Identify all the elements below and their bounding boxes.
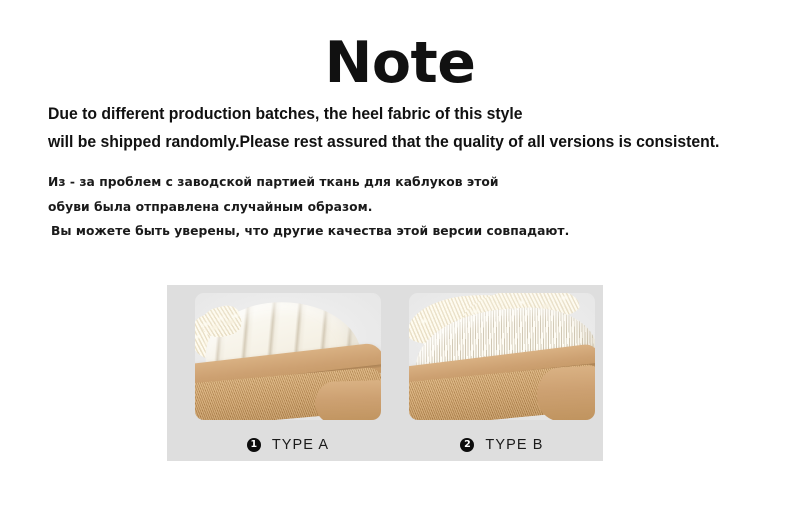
russian-notice: Из - за проблем с заводской партией ткан… [48, 170, 778, 244]
english-notice-line-1: Due to different production batches, the… [48, 100, 745, 128]
platform-base [536, 365, 595, 420]
platform-base [314, 380, 381, 420]
variant-type-a[interactable]: 1 TYPE A [195, 293, 381, 455]
russian-notice-line-3: Вы можете быть уверены, что другие качес… [48, 219, 778, 244]
variant-type-a-caption: 1 TYPE A [195, 435, 381, 455]
variant-badge-1: 1 [247, 438, 261, 452]
variant-badge-2: 2 [460, 438, 474, 452]
russian-notice-line-2: обуви была отправлена случайным образом. [48, 195, 778, 220]
page-title: Note [0, 31, 800, 95]
variant-type-b-label: TYPE B [485, 437, 543, 453]
english-notice: Due to different production batches, the… [48, 100, 778, 156]
variant-type-b-photo [409, 293, 595, 420]
variant-type-b-caption: 2 TYPE B [409, 435, 595, 455]
variant-type-b[interactable]: 2 TYPE B [409, 293, 595, 455]
variant-type-a-label: TYPE A [272, 437, 329, 453]
variant-comparison-panel: 1 TYPE A [167, 285, 603, 461]
variant-type-a-photo [195, 293, 381, 420]
english-notice-line-2: will be shipped randomly.Please rest ass… [48, 128, 745, 156]
russian-notice-line-1: Из - за проблем с заводской партией ткан… [48, 170, 778, 195]
